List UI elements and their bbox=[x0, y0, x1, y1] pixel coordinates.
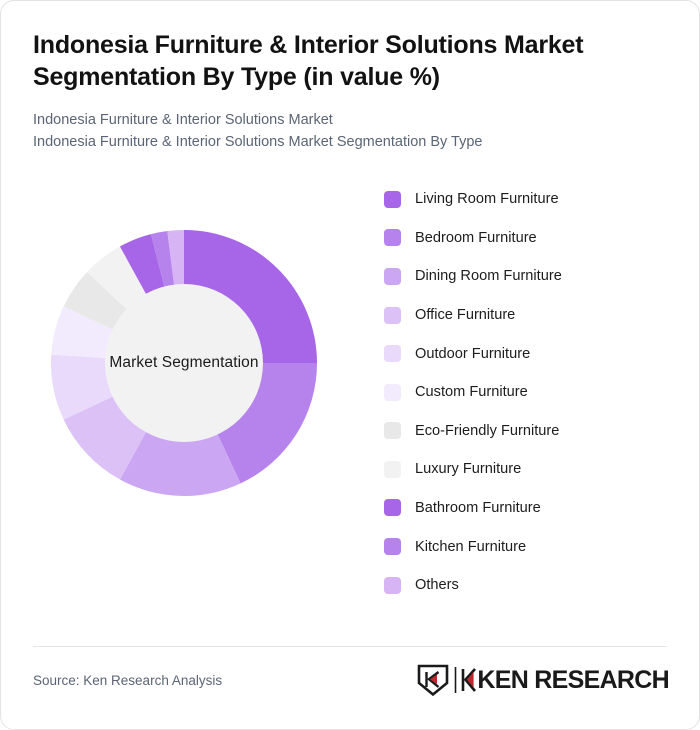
legend-item[interactable]: Dining Room Furniture bbox=[384, 257, 699, 296]
legend-item[interactable]: Office Furniture bbox=[384, 296, 699, 335]
legend-item[interactable]: Luxury Furniture bbox=[384, 450, 699, 489]
legend-item[interactable]: Bathroom Furniture bbox=[384, 489, 699, 528]
legend-item[interactable]: Custom Furniture bbox=[384, 373, 699, 412]
legend-item-label: Living Room Furniture bbox=[415, 191, 559, 207]
legend-swatch-icon bbox=[384, 307, 401, 324]
chart-legend: Living Room FurnitureBedroom FurnitureDi… bbox=[384, 180, 699, 605]
donut-center-hole bbox=[105, 284, 263, 442]
ken-research-shield-icon bbox=[416, 663, 450, 697]
legend-swatch-icon bbox=[384, 461, 401, 478]
ken-research-logo: KEN RESEARCH bbox=[416, 663, 669, 697]
legend-swatch-icon bbox=[384, 268, 401, 285]
legend-item-label: Luxury Furniture bbox=[415, 461, 521, 477]
chart-header: Indonesia Furniture & Interior Solutions… bbox=[1, 1, 699, 154]
legend-item-label: Outdoor Furniture bbox=[415, 346, 530, 362]
subtitle-line-segmentation: Indonesia Furniture & Interior Solutions… bbox=[33, 131, 667, 153]
legend-swatch-icon bbox=[384, 538, 401, 555]
legend-swatch-icon bbox=[384, 229, 401, 246]
source-note: Source: Ken Research Analysis bbox=[33, 673, 222, 688]
logo-wordmark: KEN RESEARCH bbox=[477, 666, 669, 695]
logo-divider-icon bbox=[450, 665, 461, 695]
legend-item[interactable]: Others bbox=[384, 566, 699, 605]
footer-divider bbox=[33, 646, 667, 647]
legend-item[interactable]: Kitchen Furniture bbox=[384, 527, 699, 566]
legend-item[interactable]: Eco-Friendly Furniture bbox=[384, 412, 699, 451]
page-title: Indonesia Furniture & Interior Solutions… bbox=[33, 29, 613, 93]
legend-item-label: Kitchen Furniture bbox=[415, 539, 526, 555]
subtitle-line-market: Indonesia Furniture & Interior Solutions… bbox=[33, 109, 667, 131]
legend-swatch-icon bbox=[384, 499, 401, 516]
legend-item-label: Custom Furniture bbox=[415, 384, 528, 400]
legend-item-label: Eco-Friendly Furniture bbox=[415, 423, 559, 439]
legend-item-label: Dining Room Furniture bbox=[415, 268, 562, 284]
legend-swatch-icon bbox=[384, 577, 401, 594]
legend-item-label: Bathroom Furniture bbox=[415, 500, 541, 516]
chart-body: Market Segmentation Living Room Furnitur… bbox=[1, 154, 699, 602]
legend-item-label: Office Furniture bbox=[415, 307, 515, 323]
chart-footer: Source: Ken Research Analysis KEN RESEAR… bbox=[33, 663, 669, 697]
legend-item[interactable]: Outdoor Furniture bbox=[384, 334, 699, 373]
legend-swatch-icon bbox=[384, 384, 401, 401]
legend-item-label: Bedroom Furniture bbox=[415, 230, 537, 246]
legend-swatch-icon bbox=[384, 422, 401, 439]
chart-subtitle: Indonesia Furniture & Interior Solutions… bbox=[33, 109, 667, 154]
logo-k-accent-icon bbox=[461, 667, 477, 693]
legend-item-label: Others bbox=[415, 577, 459, 593]
donut-chart-svg bbox=[0, 163, 384, 563]
donut-chart: Market Segmentation bbox=[0, 163, 384, 563]
legend-item[interactable]: Bedroom Furniture bbox=[384, 219, 699, 258]
legend-item[interactable]: Living Room Furniture bbox=[384, 180, 699, 219]
legend-swatch-icon bbox=[384, 191, 401, 208]
chart-card: Indonesia Furniture & Interior Solutions… bbox=[0, 0, 700, 730]
legend-swatch-icon bbox=[384, 345, 401, 362]
